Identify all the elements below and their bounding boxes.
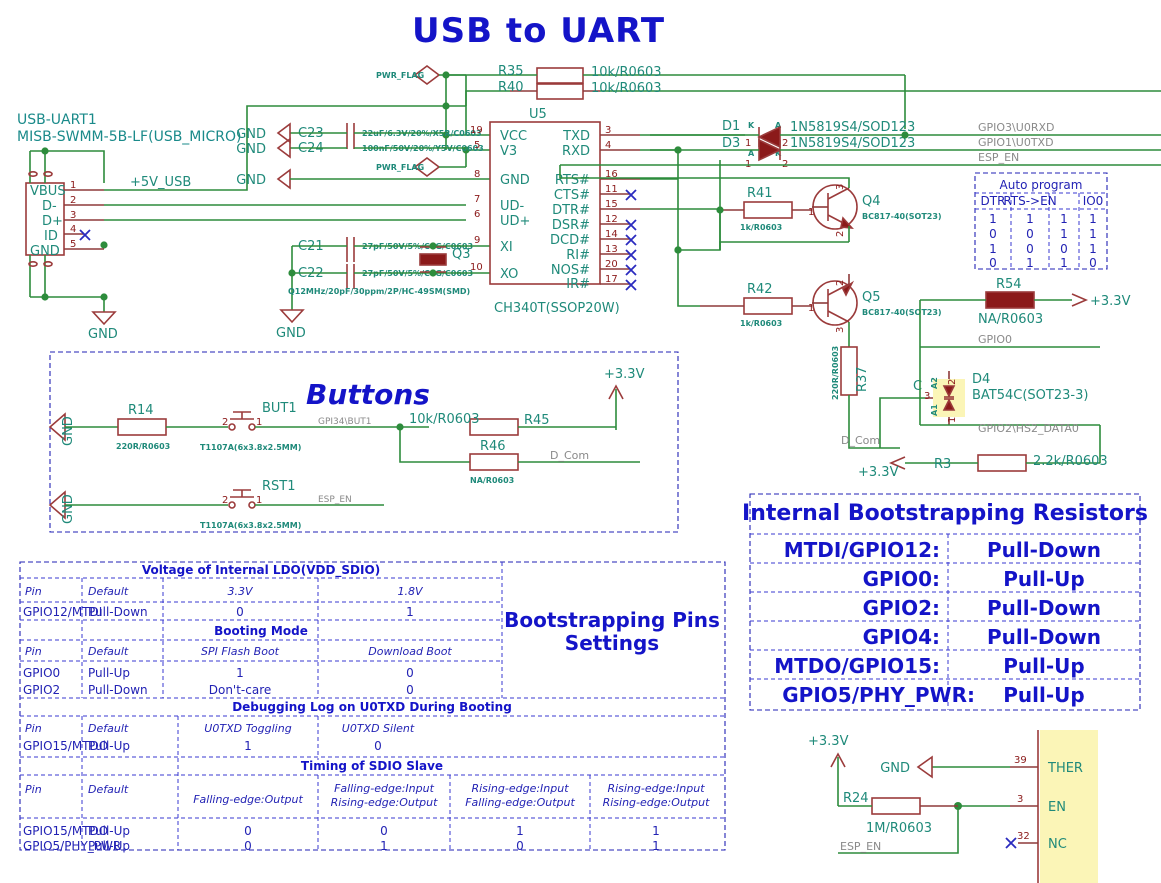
boot-sec2-header: Debugging Log on U0TXD During Booting bbox=[232, 700, 512, 714]
net-label-dcom-right: D_Com bbox=[841, 434, 880, 447]
r41-value: 1k/R0603 bbox=[740, 223, 782, 232]
rst1-pin-1: 1 bbox=[256, 495, 262, 506]
resistor-r42: R42 1k/R0603 bbox=[700, 282, 812, 328]
gnd-label-crystal: GND bbox=[276, 326, 306, 341]
r3-value: 2.2k/R0603 bbox=[1033, 454, 1108, 469]
u5-pin-num-8: 8 bbox=[474, 169, 480, 180]
boot-sec2-col0: Pin bbox=[25, 722, 42, 735]
u5-pin-name-cts: CTS# bbox=[554, 188, 590, 203]
boot-sdio-r0c1: Pull-Up bbox=[88, 824, 130, 838]
usb-connector[interactable]: USB-UART1 MISB-SWMM-5B-LF(USB_MICRO) VBU… bbox=[17, 112, 242, 342]
nc-marks bbox=[626, 190, 636, 290]
schematic-canvas: USB to UART USB-UART1 MISB-SWMM-5B-LF(US… bbox=[0, 0, 1161, 883]
ap-r1c3: 1 bbox=[1089, 227, 1097, 241]
u5-pin-name-vcc: VCC bbox=[500, 129, 527, 144]
d1-value: 1N5819S4/SOD123 bbox=[790, 120, 915, 135]
boot-sec0-col0: Pin bbox=[25, 585, 42, 598]
net-label-esp-en: ESP_EN bbox=[978, 151, 1019, 164]
esp-gnd-label: GND bbox=[880, 761, 910, 776]
r54-value: NA/R0603 bbox=[978, 312, 1043, 327]
u5-pin-name-dtr: DTR# bbox=[552, 203, 590, 218]
ap-r0c3: 1 bbox=[1089, 212, 1097, 226]
esp-pin-name-ther: THER bbox=[1047, 761, 1083, 776]
r54-ref: R54 bbox=[996, 277, 1022, 292]
esp-pin-num-32: 32 bbox=[1017, 831, 1030, 842]
u5-ref: U5 bbox=[529, 107, 547, 122]
d4-num-3: 3 bbox=[924, 391, 930, 402]
resistor-r54: R54 NA/R0603 +3.3V bbox=[920, 277, 1131, 327]
r40-value: 10k/R0603 bbox=[591, 81, 662, 96]
r42-value: 1k/R0603 bbox=[740, 319, 782, 328]
net-5v-usb: +5V_USB bbox=[130, 175, 191, 190]
usb-pin-name-dm: D- bbox=[42, 199, 57, 214]
boot-sdio-col5-l1: Rising-edge:Input bbox=[607, 782, 705, 795]
r41-ref: R41 bbox=[747, 186, 773, 201]
ibr-r3-value: Pull-Down bbox=[987, 625, 1101, 649]
d4-ref: D4 bbox=[972, 372, 990, 387]
u5-pin-name-rxd: RXD bbox=[562, 144, 590, 159]
boot-sec1-col0: Pin bbox=[25, 645, 42, 658]
net-label-gpio2: GPIO2\HS2_DATA0 bbox=[978, 422, 1079, 435]
transistor-q5: 1 2 3 Q5 BC817-40(SOT23) bbox=[808, 274, 942, 347]
boot-sec1-r1c2: Don't-care bbox=[209, 683, 272, 697]
usb-pin-num-5: 5 bbox=[70, 239, 76, 250]
resistor-r45: 10k/R0603 R45 bbox=[409, 412, 616, 435]
q4-pin-c: 3 bbox=[835, 184, 846, 190]
buttons-section-title: Buttons bbox=[306, 378, 430, 411]
r3-ref: R3 bbox=[934, 457, 951, 472]
ic-u5[interactable]: U5 CH340T(SSOP20W) VCC V3 GND UD- UD+ XI… bbox=[470, 107, 640, 316]
ibr-r5-name: GPIO5/PHY_PWR: bbox=[782, 683, 975, 707]
boot-sdio-r1c1: Pull-Up bbox=[88, 839, 130, 853]
boot-sdio-r1c2: 0 bbox=[244, 839, 252, 853]
q4-pin-b: 1 bbox=[808, 207, 814, 218]
resistor-r41: R41 1k/R0603 bbox=[720, 186, 812, 232]
ap-r3c3: 0 bbox=[1089, 256, 1097, 270]
resistor-r40: R40 10k/R0603 bbox=[466, 80, 1161, 106]
net-label-gpio0: GPIO0 bbox=[978, 333, 1012, 346]
u5-pin-name-dcd: DCD# bbox=[550, 233, 590, 248]
boot-sdio-col0: Pin bbox=[25, 783, 42, 796]
boot-sdio-col5-l2: Rising-edge:Output bbox=[603, 796, 711, 809]
net-label-esp-en-bottom: ESP_EN bbox=[840, 840, 881, 853]
boot-sec0-r0c1: Pull-Down bbox=[88, 605, 148, 619]
gnd-flag-u5: GND bbox=[236, 170, 490, 188]
ibr-r4-value: Pull-Up bbox=[1003, 654, 1084, 678]
boot-sec1-col2: SPI Flash Boot bbox=[201, 645, 280, 658]
r35-value: 10k/R0603 bbox=[591, 65, 662, 80]
boot-sdio-header: Timing of SDIO Slave bbox=[301, 759, 443, 773]
gnd-flag-c23: GND bbox=[236, 124, 290, 142]
r14-value: 220R/R0603 bbox=[116, 442, 170, 451]
boot-sec1-r0c1: Pull-Up bbox=[88, 666, 130, 680]
gnd-flag-label-1: GND bbox=[236, 127, 266, 142]
usb-pin-num-2: 2 bbox=[70, 195, 76, 206]
net-label-dcom-buttons: D_Com bbox=[550, 449, 589, 462]
net-label-but1: GPI34\BUT1 bbox=[318, 417, 372, 427]
r3-net-33v: +3.3V bbox=[858, 465, 899, 480]
boot-sec1-col3: Download Boot bbox=[368, 645, 452, 658]
u5-pin-num-10: 10 bbox=[470, 262, 483, 273]
auto-program-col-io0: IO0 bbox=[1083, 194, 1104, 208]
but1-pin-1: 1 bbox=[256, 417, 262, 428]
boot-sdio-r0c4: 1 bbox=[516, 824, 524, 838]
auto-program-title: Auto program bbox=[1000, 178, 1083, 192]
esp-pin-name-en: EN bbox=[1048, 800, 1066, 815]
boot-sec1-header: Booting Mode bbox=[214, 624, 308, 638]
rst1-part: T1107A(6x3.8x2.5MM) bbox=[200, 521, 301, 530]
buttons-section: Buttons +3.3V GND R14 220R/R0603 2 1 BUT… bbox=[50, 352, 678, 532]
u5-pin-name-xo: XO bbox=[500, 267, 518, 282]
but1-ref: BUT1 bbox=[262, 401, 297, 416]
boot-table-side-title-l2: Settings bbox=[565, 631, 659, 655]
ibr-r2-name: GPIO2: bbox=[863, 596, 940, 620]
ap-r2c1: 0 bbox=[1026, 242, 1034, 256]
u5-pin-name-v3: V3 bbox=[500, 144, 517, 159]
button-rst1[interactable]: 2 1 RST1 T1107A(6x3.8x2.5MM) ESP_EN bbox=[200, 479, 384, 530]
pwr-flag-label-2: PWR_FLAG bbox=[376, 163, 424, 172]
boot-sdio-col4-l2: Falling-edge:Output bbox=[465, 796, 575, 809]
auto-program-col-rts-en: RTS->EN bbox=[1003, 194, 1056, 208]
r45-value: 10k/R0603 bbox=[409, 412, 480, 427]
boot-sdio-col3-l1: Falling-edge:Input bbox=[334, 782, 435, 795]
boot-sdio-col1: Default bbox=[88, 783, 129, 796]
gnd-flag-label-2: GND bbox=[236, 142, 266, 157]
usb-pin-name-vbus: VBUS bbox=[30, 184, 66, 199]
u5-pin-name-txd: TXD bbox=[562, 129, 590, 144]
r14-ref: R14 bbox=[128, 403, 154, 418]
net-label-gpio3: GPIO3\U0RXD bbox=[978, 121, 1054, 134]
esp-pin-num-3: 3 bbox=[1017, 794, 1023, 805]
boot-sdio-col3-l2: Rising-edge:Output bbox=[331, 796, 439, 809]
resistor-r3: R3 2.2k/R0603 +3.3V bbox=[858, 454, 1108, 480]
d3-ref: D3 bbox=[722, 136, 740, 151]
gnd-flag-label-3: GND bbox=[236, 173, 266, 188]
ap-r0c1: 1 bbox=[1026, 212, 1034, 226]
usb-connector-ref: USB-UART1 bbox=[17, 112, 97, 128]
gnd-label-but1: GND bbox=[61, 416, 76, 446]
r45-ref: R45 bbox=[524, 413, 550, 428]
ibr-r5-value: Pull-Up bbox=[1003, 683, 1084, 707]
ap-r0c2: 1 bbox=[1060, 212, 1068, 226]
ibr-r2-value: Pull-Down bbox=[987, 596, 1101, 620]
q3-value: Q12MHz/20pF/30ppm/2P/HC-49SM(SMD) bbox=[288, 287, 470, 296]
u5-pin-num-6: 6 bbox=[474, 209, 480, 220]
ap-r2c0: 1 bbox=[989, 242, 997, 256]
u5-pin-name-udm: UD- bbox=[500, 199, 525, 214]
resistor-r37: R37 220R/R0603 bbox=[831, 346, 900, 448]
ap-r3c0: 0 bbox=[989, 256, 997, 270]
usb-pin-name-dp: D+ bbox=[42, 214, 63, 229]
u5-pin-num-5: 5 bbox=[474, 140, 480, 151]
buttons-vcc-label: +3.3V bbox=[604, 367, 645, 382]
d4-part: BAT54C(SOT23-3) bbox=[972, 388, 1088, 403]
d1-num-1: 1 bbox=[745, 138, 751, 149]
auto-program-table: Auto program DTR RTS->EN IO0 1 1 1 1 0 0… bbox=[975, 173, 1107, 270]
u5-pin-name-gnd: GND bbox=[500, 173, 530, 188]
esp-pin-num-39: 39 bbox=[1014, 755, 1027, 766]
boot-sec2-r0c1: Pull-Up bbox=[88, 739, 130, 753]
resistor-r24: R24 1M/R0603 bbox=[838, 791, 958, 836]
ap-r1c1: 0 bbox=[1026, 227, 1034, 241]
boot-sdio-r1c5: 1 bbox=[652, 839, 660, 853]
gnd-label-usb: GND bbox=[88, 327, 118, 342]
q3-ref: Q3 bbox=[452, 247, 471, 262]
u5-pin-num-7: 7 bbox=[474, 194, 480, 205]
d4-num-2: 2 bbox=[947, 379, 958, 385]
ibr-r1-value: Pull-Up bbox=[1003, 567, 1084, 591]
boot-sec0-col1: Default bbox=[88, 585, 129, 598]
but1-pin-2: 2 bbox=[222, 417, 228, 428]
net-label-gpio1: GPIO1\U0TXD bbox=[978, 136, 1054, 149]
boot-table-side-title-l1: Bootstrapping Pins bbox=[504, 608, 720, 632]
boot-sec0-r0c3: 1 bbox=[406, 605, 414, 619]
r54-net-33v: +3.3V bbox=[1090, 294, 1131, 309]
usb-pin-num-4: 4 bbox=[70, 224, 76, 235]
q5-ref: Q5 bbox=[862, 290, 881, 305]
boot-sdio-r0c3: 0 bbox=[380, 824, 388, 838]
u5-pin-name-dsr: DSR# bbox=[552, 218, 590, 233]
rst1-ref: RST1 bbox=[262, 479, 296, 494]
ibr-r0-value: Pull-Down bbox=[987, 538, 1101, 562]
internal-bootstrapping-resistors-table: Internal Bootstrapping Resistors MTDI/GP… bbox=[742, 494, 1148, 710]
ibr-r1-name: GPIO0: bbox=[863, 567, 940, 591]
esp-vcc-label: +3.3V bbox=[808, 734, 849, 749]
boot-sec1-r1c3: 0 bbox=[406, 683, 414, 697]
r24-ref: R24 bbox=[843, 791, 869, 806]
q5-pin-e: 3 bbox=[835, 327, 846, 333]
ap-r3c2: 1 bbox=[1060, 256, 1068, 270]
ap-r3c1: 1 bbox=[1026, 256, 1034, 270]
boot-sec1-r0c2: 1 bbox=[236, 666, 244, 680]
d3-value: 1N5819S4/SOD123 bbox=[790, 136, 915, 151]
ibr-r4-name: MTDO/GPIO15: bbox=[774, 654, 940, 678]
bootstrapping-pins-table: Voltage of Internal LDO(VDD_SDIO) Pin De… bbox=[20, 562, 725, 853]
boot-sec2-col1: Default bbox=[88, 722, 129, 735]
cap-c22: C22 27pF/50V/5%/C0G/C0603 bbox=[292, 264, 490, 289]
esp-pin-name-nc: NC bbox=[1048, 837, 1067, 852]
q5-pin-b: 1 bbox=[808, 303, 814, 314]
ibr-title: Internal Bootstrapping Resistors bbox=[742, 501, 1148, 526]
boot-sec2-r0c2: 1 bbox=[244, 739, 252, 753]
boot-sec2-col2: U0TXD Toggling bbox=[204, 722, 291, 735]
boot-sdio-r0c5: 1 bbox=[652, 824, 660, 838]
rst1-pin-2: 2 bbox=[222, 495, 228, 506]
ibr-r0-name: MTDI/GPIO12: bbox=[784, 538, 940, 562]
boot-sec1-r0c3: 0 bbox=[406, 666, 414, 680]
boot-sec0-header: Voltage of Internal LDO(VDD_SDIO) bbox=[142, 563, 380, 578]
u5-pin-name-nos: NOS# bbox=[551, 263, 590, 278]
boot-sec1-col1: Default bbox=[88, 645, 129, 658]
boot-sdio-col4-l1: Rising-edge:Input bbox=[471, 782, 569, 795]
d4-num-1: 1 bbox=[947, 417, 958, 423]
boot-sdio-r0c2: 0 bbox=[244, 824, 252, 838]
q4-part: BC817-40(SOT23) bbox=[862, 212, 942, 221]
u5-part: CH340T(SSOP20W) bbox=[494, 301, 620, 316]
d1-num-2: 2 bbox=[782, 138, 788, 149]
boot-sec1-r1c0: GPIO2 bbox=[23, 683, 60, 697]
r24-value: 1M/R0603 bbox=[866, 821, 932, 836]
diode-d4: A2 A1 C 2 1 3 D4 BAT54C(SOT23-3) bbox=[913, 371, 1088, 425]
r35-ref: R35 bbox=[498, 64, 524, 79]
u5-pin-num-9: 9 bbox=[474, 235, 480, 246]
u5-pin-name-ri: RI# bbox=[566, 248, 590, 263]
boot-sec1-r1c1: Pull-Down bbox=[88, 683, 148, 697]
boot-sec0-col2: 3.3V bbox=[227, 585, 253, 598]
esp-connector-block[interactable]: 39 THER GND 3 EN ESP_EN 32 NC R24 1M/R06… bbox=[808, 730, 1098, 883]
r42-ref: R42 bbox=[747, 282, 773, 297]
d1-ref: D1 bbox=[722, 119, 740, 134]
boot-sdio-r1c3: 1 bbox=[380, 839, 388, 853]
r37-ref: R37 bbox=[855, 366, 870, 392]
ap-r2c3: 1 bbox=[1089, 242, 1097, 256]
r46-ref: R46 bbox=[480, 439, 506, 454]
boot-sdio-r1c4: 0 bbox=[516, 839, 524, 853]
u5-pin-name-udp: UD+ bbox=[500, 214, 530, 229]
ibr-r3-name: GPIO4: bbox=[863, 625, 940, 649]
q5-part: BC817-40(SOT23) bbox=[862, 308, 942, 317]
d4-pin-a1: A1 bbox=[930, 404, 939, 416]
boot-sec0-col3: 1.8V bbox=[397, 585, 423, 598]
q4-ref: Q4 bbox=[862, 194, 881, 209]
ap-r0c0: 1 bbox=[989, 212, 997, 226]
ap-r2c2: 0 bbox=[1060, 242, 1068, 256]
usb-pin-num-3: 3 bbox=[70, 210, 76, 221]
ap-r1c2: 1 bbox=[1060, 227, 1068, 241]
boot-sec2-r0c3: 0 bbox=[374, 739, 382, 753]
ap-r1c0: 0 bbox=[989, 227, 997, 241]
pwr-flag-label-1: PWR_FLAG bbox=[376, 71, 424, 80]
net-label-esp-en-rst: ESP_EN bbox=[318, 495, 352, 505]
gnd-label-rst1: GND bbox=[61, 494, 76, 524]
u5-pin-num-19: 19 bbox=[470, 125, 483, 136]
gnd-flag-c24: GND bbox=[236, 139, 290, 157]
auto-program-col-dtr: DTR bbox=[981, 194, 1006, 208]
resistor-r46: R46 NA/R0603 D_Com bbox=[470, 439, 640, 485]
boot-sec2-col3: U0TXD Silent bbox=[342, 722, 415, 735]
usb-pin-num-1: 1 bbox=[70, 180, 76, 191]
q4-pin-e: 2 bbox=[835, 231, 846, 237]
boot-sdio-col2-l2: Falling-edge:Output bbox=[193, 793, 303, 806]
boot-sec0-r0c2: 0 bbox=[236, 605, 244, 619]
cap-c24: C24 100nF/50V/20%/Y5V/C0603 bbox=[290, 141, 484, 156]
pwr-flag-2: PWR_FLAG bbox=[376, 158, 466, 176]
q5-pin-c: 2 bbox=[835, 280, 846, 286]
r40-ref: R40 bbox=[498, 80, 524, 95]
usb-pin-name-id: ID bbox=[44, 229, 58, 244]
but1-part: T1107A(6x3.8x2.5MM) bbox=[200, 443, 301, 452]
usb-connector-part: MISB-SWMM-5B-LF(USB_MICRO) bbox=[17, 129, 242, 145]
d1-pin-k: K bbox=[748, 121, 755, 130]
d4-pin-a2: A2 bbox=[930, 377, 939, 389]
r37-value: 220R/R0603 bbox=[831, 346, 840, 400]
u5-pin-name-xi: XI bbox=[500, 240, 513, 255]
page-title: USB to UART bbox=[412, 11, 665, 51]
boot-sec1-r0c0: GPIO0 bbox=[23, 666, 60, 680]
r46-value: NA/R0603 bbox=[470, 476, 514, 485]
u5-pin-name-ir: IR# bbox=[566, 277, 590, 292]
usb-pin-name-gnd: GND bbox=[30, 244, 60, 259]
